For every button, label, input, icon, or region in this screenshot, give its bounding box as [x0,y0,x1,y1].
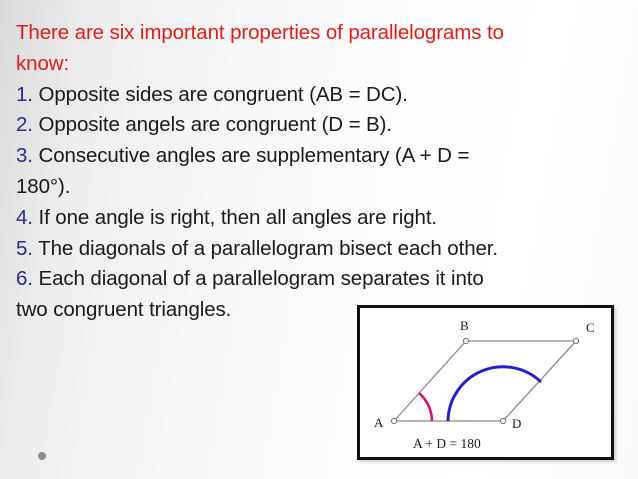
property-item-3: 3. Consecutive angles are supplementary … [16,141,536,172]
property-item-2-text: Opposite angels are congruent (D = B). [39,113,392,136]
property-item-2-number: 2. [16,113,33,136]
vertex-label-b: B [460,318,469,333]
property-item-4-number: 4. [16,206,33,229]
vertex-label-c: C [586,320,595,335]
vertex-marker-d [500,418,505,423]
property-item-5-text: The diagonals of a parallelogram bisect … [38,237,498,260]
vertex-label-a: A [374,415,384,430]
property-item-5-number: 5. [16,237,33,260]
property-item-5: 5. The diagonals of a parallelogram bise… [16,234,536,265]
vertex-marker-c [573,338,578,343]
property-item-6-continuation-text: two congruent triangles. [16,298,231,321]
vertex-marker-a [391,418,396,423]
parallelogram-diagram-svg: A B C D A + D = 180 [360,308,611,457]
property-item-3-continuation: 180°). [16,172,536,203]
property-item-6: 6. Each diagonal of a parallelogram sepa… [16,264,536,295]
property-item-6-number: 6. [16,267,33,290]
property-item-6-text: Each diagonal of a parallelogram separat… [39,267,484,290]
slide-text-block: There are six important properties of pa… [16,18,536,326]
property-item-1-text: Opposite sides are congruent (AB = DC). [39,83,408,106]
diagram-caption: A + D = 180 [413,436,481,451]
property-item-4-text: If one angle is right, then all angles a… [39,206,438,229]
slide-title-line-1: There are six important properties of pa… [16,18,536,49]
angle-a-arc [419,393,432,421]
vertex-marker-b [463,338,468,343]
slide-canvas: There are six important properties of pa… [0,0,638,479]
vertex-label-d: D [512,416,521,431]
empty-bullet-placeholder [38,452,46,460]
property-item-1-number: 1. [16,83,33,106]
property-item-2: 2. Opposite angels are congruent (D = B)… [16,110,536,141]
slide-title-line-2: know: [16,49,536,80]
property-item-4: 4. If one angle is right, then all angle… [16,203,536,234]
property-item-3-number: 3. [16,144,33,167]
property-item-3-text: Consecutive angles are supplementary (A … [39,144,470,167]
parallelogram-diagram: A B C D A + D = 180 [357,305,614,460]
property-item-3-continuation-text: 180°). [16,175,70,198]
property-item-1: 1. Opposite sides are congruent (AB = DC… [16,80,536,111]
